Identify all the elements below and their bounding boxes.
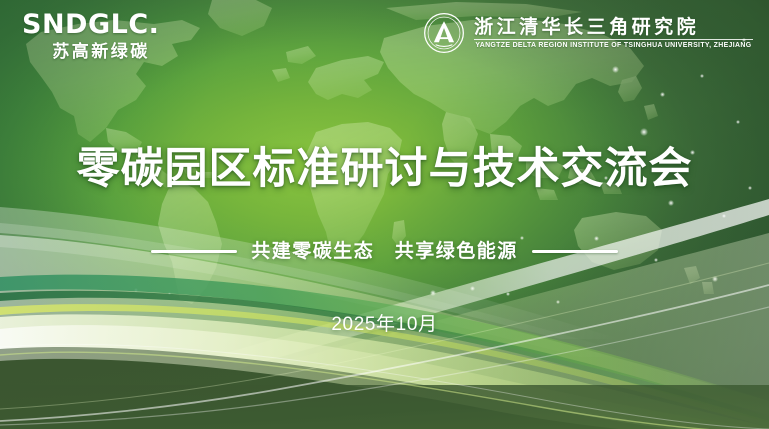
logo-sndglc: SNDGLC. 苏高新绿碳 bbox=[22, 11, 172, 60]
horizontal-rule-icon-left bbox=[151, 250, 237, 253]
horizontal-rule-icon-right bbox=[532, 250, 618, 253]
event-date: 2025年10月 bbox=[0, 315, 769, 334]
poster-canvas: SNDGLC. 苏高新绿碳 浙江清华长三角研究院 YANGTZE DELTA R… bbox=[0, 0, 769, 429]
logo-ydr-divider bbox=[474, 39, 753, 40]
logo-sndglc-name-cn: 苏高新绿碳 bbox=[22, 43, 172, 60]
logo-ydr-institute: 浙江清华长三角研究院 YANGTZE DELTA REGION INSTITUT… bbox=[423, 12, 753, 54]
logo-ydr-name-en: YANGTZE DELTA REGION INSTITUTE OF TSINGH… bbox=[476, 42, 752, 49]
ribbon-waves-icon bbox=[0, 189, 769, 429]
page-title: 零碳园区标准研讨与技术交流会 bbox=[0, 148, 769, 191]
tsinghua-arch-seal-icon bbox=[423, 12, 465, 54]
subtitle-row: 共建零碳生态 共享绿色能源 bbox=[0, 242, 769, 261]
page-subtitle: 共建零碳生态 共享绿色能源 bbox=[251, 242, 518, 261]
logo-sndglc-mark: SNDGLC. bbox=[22, 11, 172, 38]
logo-ydr-name-cn: 浙江清华长三角研究院 bbox=[474, 17, 753, 39]
